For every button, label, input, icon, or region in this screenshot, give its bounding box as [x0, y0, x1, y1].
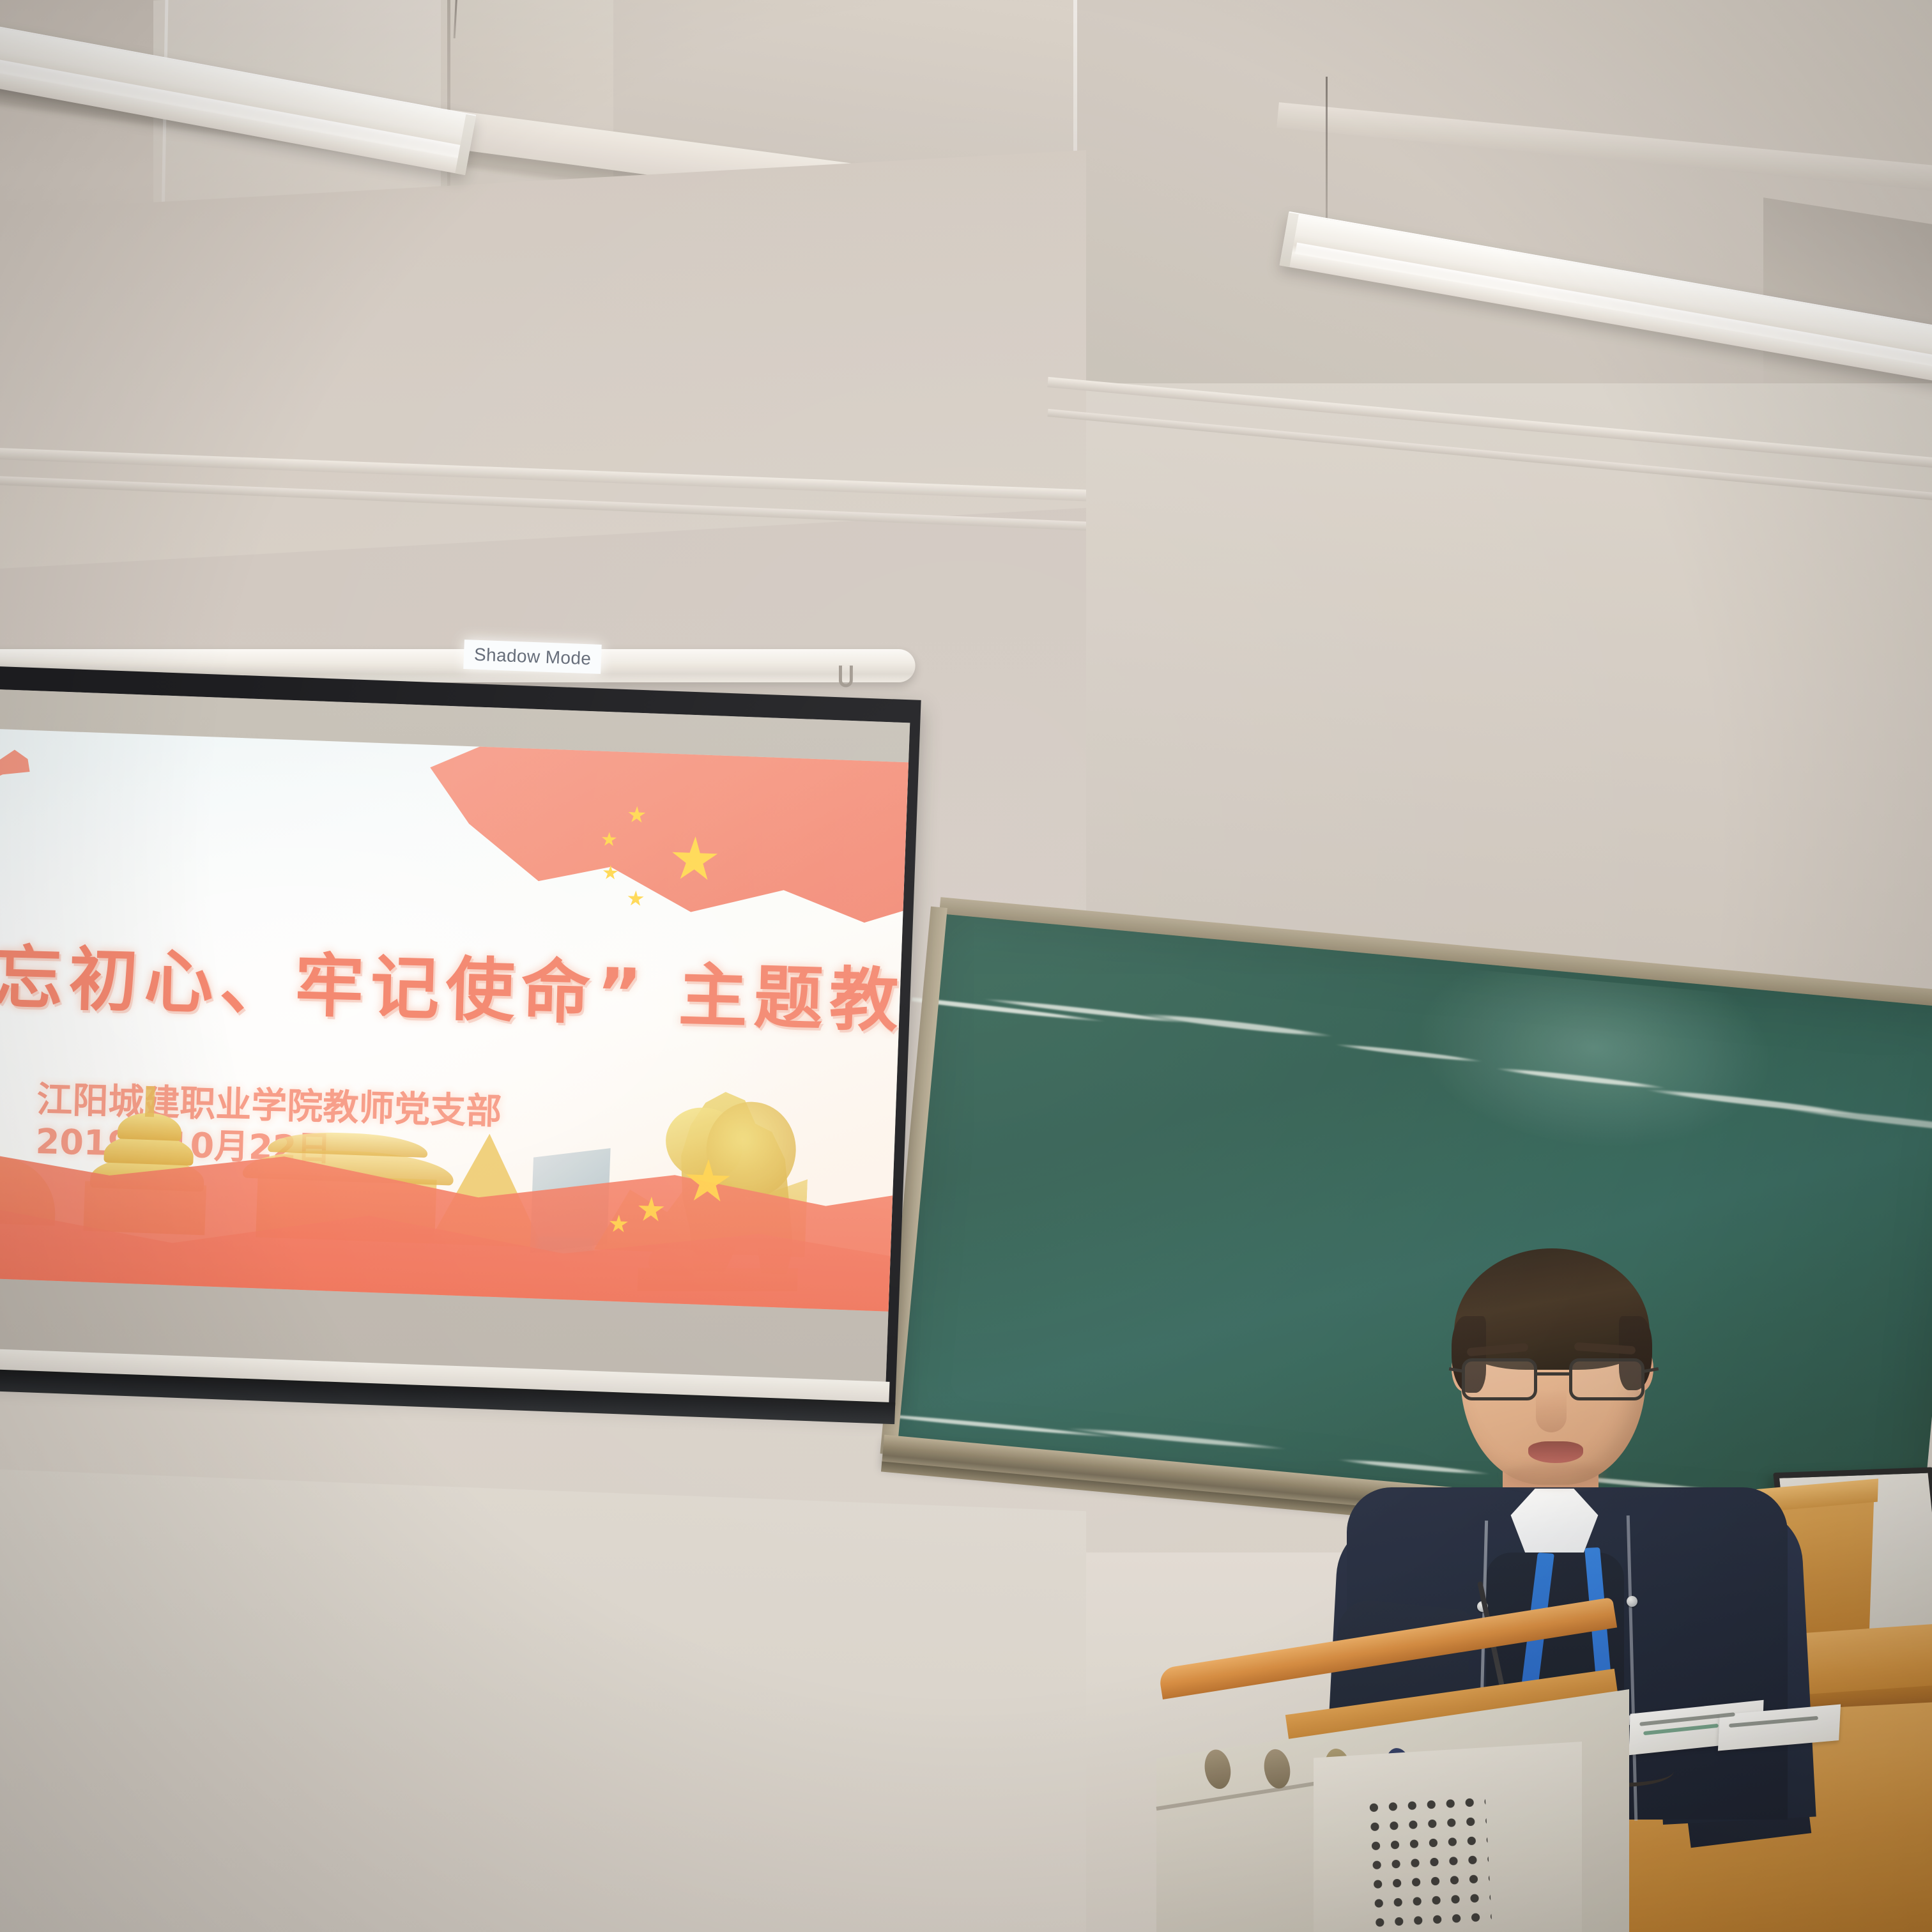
- shadow-mode-badge: Shadow Mode: [463, 640, 602, 674]
- temple-spire: [145, 1086, 155, 1117]
- oval-cutout: [1261, 1747, 1292, 1790]
- right-wall-panel: [1086, 383, 1932, 990]
- lectern: [1163, 1687, 1636, 1932]
- lower-wall-left: [0, 1469, 1086, 1932]
- light-suspension-wire: [1326, 77, 1328, 224]
- chin-shadow: [1504, 1463, 1606, 1487]
- glasses-lens: [1569, 1358, 1644, 1400]
- wall-edge: [447, 0, 450, 211]
- nose: [1536, 1389, 1567, 1432]
- jacket-snap: [1627, 1596, 1637, 1607]
- screen-mount-hook: [839, 666, 853, 687]
- mouth: [1528, 1441, 1583, 1463]
- speaker-grille: [1364, 1792, 1492, 1932]
- screen-surface: “不忘初心、牢记使命” 主题教育 江阳城建职业学院教师党支部 2019年10月2…: [0, 686, 910, 1384]
- glasses-lens: [1462, 1358, 1537, 1400]
- projected-slide: “不忘初心、牢记使命” 主题教育 江阳城建职业学院教师党支部 2019年10月2…: [0, 725, 908, 1312]
- oval-cutout: [1202, 1747, 1233, 1790]
- glasses-bridge: [1537, 1372, 1570, 1376]
- classroom-photo: “不忘初心、牢记使命” 主题教育 江阳城建职业学院教师党支部 2019年10月2…: [0, 0, 1932, 1932]
- projection-screen-assembly[interactable]: “不忘初心、牢记使命” 主题教育 江阳城建职业学院教师党支部 2019年10月2…: [0, 537, 970, 1519]
